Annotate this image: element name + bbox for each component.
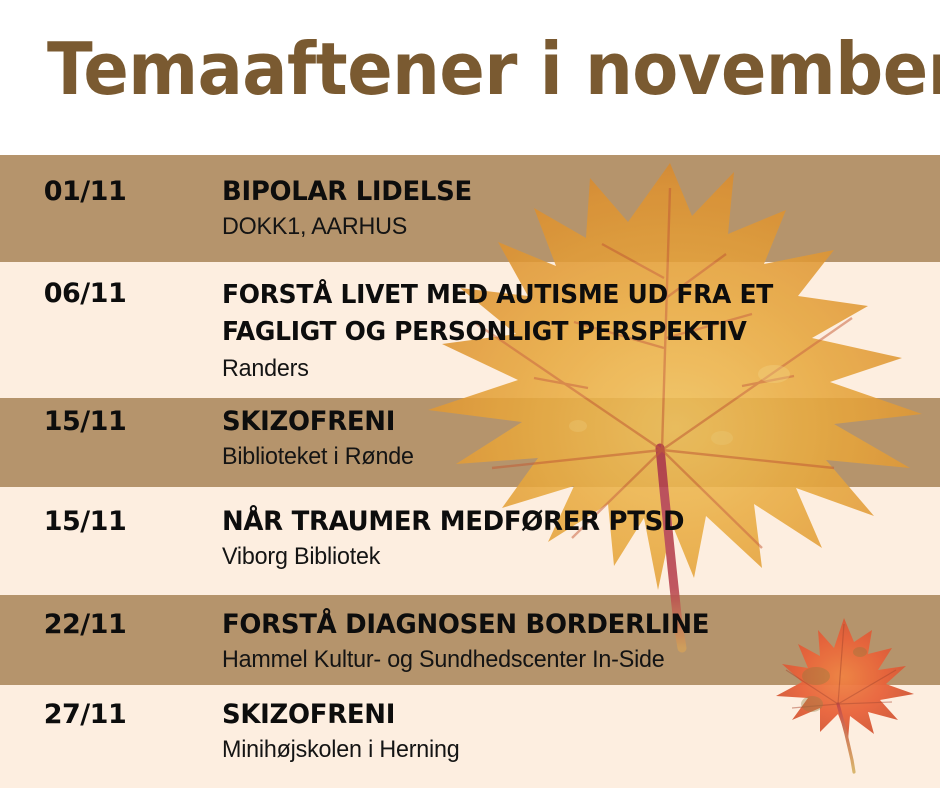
event-venue: Randers xyxy=(222,353,918,385)
event-venue: Hammel Kultur- og Sundhedscenter In-Side xyxy=(222,644,918,676)
poster-canvas: Temaaftener i november 01/11 BIPOLAR LID… xyxy=(0,0,940,788)
event-venue: DOKK1, AARHUS xyxy=(222,211,918,243)
event-details: FORSTÅ LIVET MED AUTISME UD FRA ET FAGLI… xyxy=(160,277,940,385)
event-date: 15/11 xyxy=(0,505,160,539)
event-date: 22/11 xyxy=(0,608,160,642)
event-title: FORSTÅ DIAGNOSEN BORDERLINE xyxy=(222,608,911,642)
event-details: SKIZOFRENI Minihøjskolen i Herning xyxy=(160,698,940,766)
event-row-1: 01/11 BIPOLAR LIDELSE DOKK1, AARHUS xyxy=(0,175,940,243)
event-title: BIPOLAR LIDELSE xyxy=(222,175,911,209)
event-row-5: 22/11 FORSTÅ DIAGNOSEN BORDERLINE Hammel… xyxy=(0,608,940,676)
event-row-6: 27/11 SKIZOFRENI Minihøjskolen i Herning xyxy=(0,698,940,766)
event-details: NÅR TRAUMER MEDFØRER PTSD Viborg Bibliot… xyxy=(160,505,940,573)
event-date: 01/11 xyxy=(0,175,160,209)
event-row-4: 15/11 NÅR TRAUMER MEDFØRER PTSD Viborg B… xyxy=(0,505,940,573)
event-date: 15/11 xyxy=(0,405,160,439)
event-details: FORSTÅ DIAGNOSEN BORDERLINE Hammel Kultu… xyxy=(160,608,940,676)
event-details: SKIZOFRENI Biblioteket i Rønde xyxy=(160,405,940,473)
event-title: NÅR TRAUMER MEDFØRER PTSD xyxy=(222,505,911,539)
event-venue: Biblioteket i Rønde xyxy=(222,441,918,473)
event-row-3: 15/11 SKIZOFRENI Biblioteket i Rønde xyxy=(0,405,940,473)
page-title: Temaaftener i november xyxy=(47,27,940,111)
event-venue: Viborg Bibliotek xyxy=(222,541,918,573)
event-title: FORSTÅ LIVET MED AUTISME UD FRA ET FAGLI… xyxy=(222,277,911,351)
event-date: 06/11 xyxy=(0,277,160,311)
event-date: 27/11 xyxy=(0,698,160,732)
title-area: Temaaftener i november xyxy=(0,0,940,155)
event-details: BIPOLAR LIDELSE DOKK1, AARHUS xyxy=(160,175,940,243)
event-title: SKIZOFRENI xyxy=(222,405,911,439)
event-title: SKIZOFRENI xyxy=(222,698,911,732)
event-venue: Minihøjskolen i Herning xyxy=(222,734,918,766)
event-row-2: 06/11 FORSTÅ LIVET MED AUTISME UD FRA ET… xyxy=(0,277,940,385)
